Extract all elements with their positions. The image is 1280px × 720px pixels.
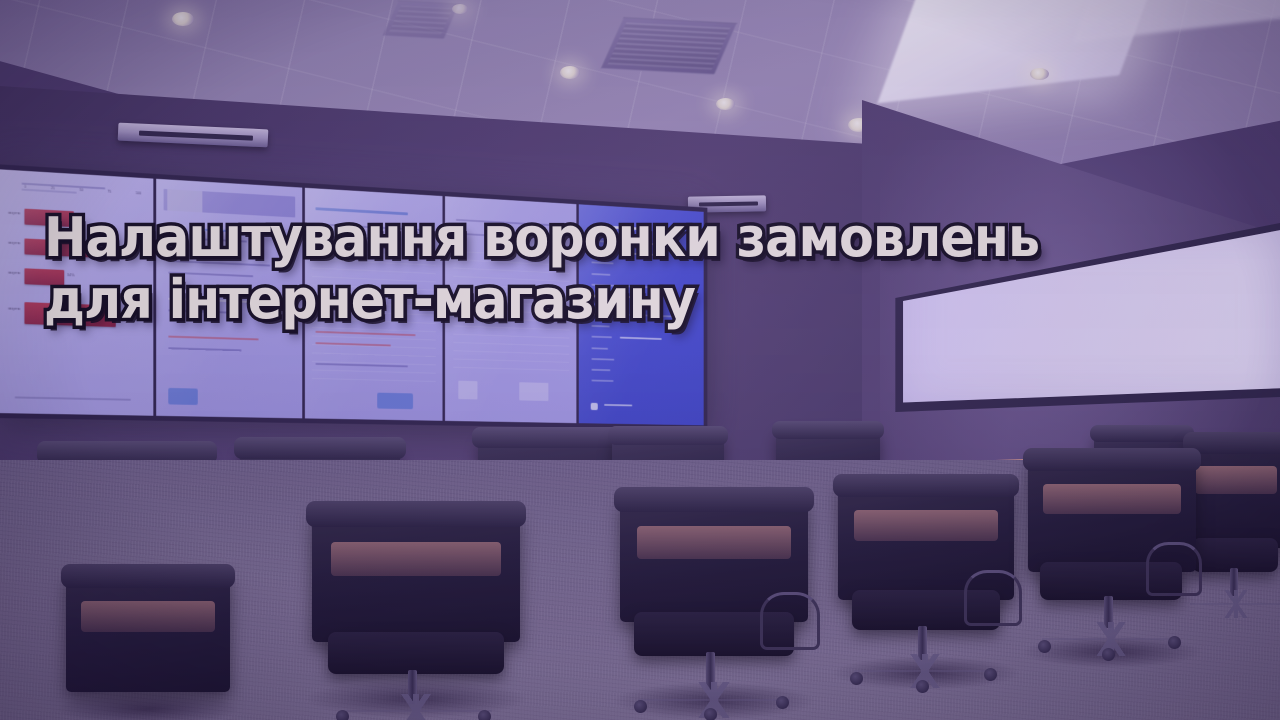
chair-caster — [1168, 636, 1181, 649]
chart-category-label: мкртм — [0, 269, 20, 276]
chair-caster — [1038, 640, 1051, 653]
doc-icon[interactable] — [520, 382, 549, 400]
chair-front-4[interactable] — [838, 482, 1014, 696]
chair-backrest — [312, 510, 520, 642]
chair-base — [1190, 590, 1280, 618]
chair-caster — [478, 710, 491, 720]
chair-shadow — [56, 692, 240, 720]
settings-app-label — [604, 404, 632, 406]
chair-front-3[interactable] — [620, 496, 808, 720]
doc-text-line — [168, 347, 242, 351]
settings-label — [592, 369, 611, 371]
doc-action-button[interactable] — [377, 392, 413, 409]
settings-value — [620, 337, 662, 340]
title-line-2: для інтернет-магазину — [44, 270, 834, 330]
chair-caster — [336, 710, 349, 720]
chair-armrest — [1146, 542, 1202, 596]
chair-armrest — [760, 592, 820, 650]
chair-seat — [1192, 538, 1278, 572]
chart-footnote — [14, 397, 141, 401]
doc-text-line-highlight — [168, 336, 259, 341]
chair-seat — [328, 632, 504, 674]
chair-headrail — [833, 474, 1020, 498]
chair-caster — [850, 672, 863, 685]
downlight-icon — [172, 12, 194, 26]
settings-label — [592, 347, 608, 349]
chair-headrail — [306, 501, 526, 527]
settings-label — [592, 336, 612, 338]
chair-base — [340, 694, 492, 720]
chair-backrest — [66, 572, 230, 692]
chair-caster — [984, 668, 997, 681]
chair-lumbar-pad — [637, 526, 791, 559]
chart-category-label: мкртм — [0, 305, 20, 312]
chair-lumbar-pad — [1043, 484, 1181, 514]
chair-caster — [1102, 648, 1115, 661]
downlight-icon — [452, 4, 468, 14]
title-overlay: Налаштування воронки замовлень для інтер… — [44, 208, 884, 330]
title-line-1: Налаштування воронки замовлень — [44, 208, 834, 268]
settings-app-icon[interactable] — [590, 403, 597, 410]
chair-headrail — [1023, 448, 1201, 471]
downlight-icon — [1030, 68, 1049, 80]
chart-category-label: мкртм — [0, 209, 20, 217]
chair-lumbar-pad — [1195, 466, 1277, 494]
chair-lumbar-pad — [854, 510, 998, 541]
chair-lumbar-pad — [331, 542, 502, 576]
settings-label — [592, 358, 615, 360]
chair-front-1[interactable] — [66, 572, 230, 720]
doc-action-button[interactable] — [168, 388, 198, 405]
chair-headrail — [614, 487, 813, 512]
chair-headrail — [61, 564, 235, 588]
downlight-icon — [716, 98, 735, 110]
chair-caster — [916, 680, 929, 693]
chair-front-2[interactable] — [312, 510, 520, 720]
chair-armrest — [964, 570, 1022, 626]
chair-caster — [776, 696, 789, 709]
chair-caster — [634, 700, 647, 713]
downlight-icon — [560, 66, 580, 79]
ceiling-vent — [600, 17, 737, 75]
title-card-scene: 0255075100 мкртм 42% мкртм 58% мкртм 34%… — [0, 0, 1280, 720]
chair-caster — [704, 708, 717, 720]
chair-front-5[interactable] — [1028, 456, 1196, 672]
settings-label — [592, 380, 614, 382]
doc-icon[interactable] — [459, 381, 478, 399]
chair-lumbar-pad — [81, 601, 215, 632]
chair-front-6[interactable] — [1186, 440, 1280, 630]
chart-category-label: мкртм — [0, 239, 20, 247]
